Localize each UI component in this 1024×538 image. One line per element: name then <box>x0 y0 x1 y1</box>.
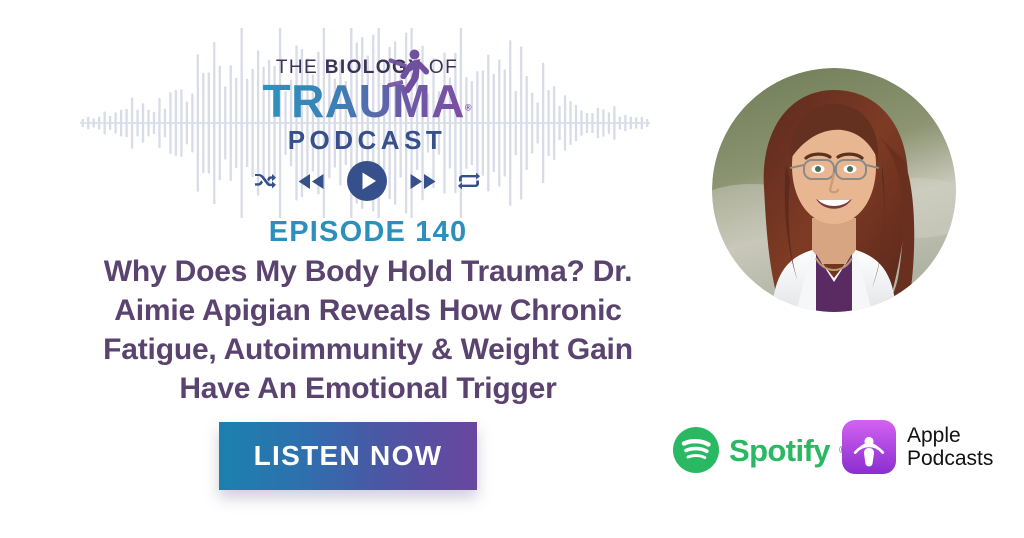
registered-trademark-mark: ® <box>465 103 472 113</box>
fast-forward-icon[interactable] <box>408 173 438 190</box>
spotify-wordmark: Spotify <box>729 435 830 466</box>
episode-title-line: Why Does My Body Hold Trauma? Dr. <box>58 252 678 291</box>
spotify-badge[interactable]: Spotify® <box>672 426 846 474</box>
apple-podcasts-badge[interactable]: Apple Podcasts <box>842 420 993 474</box>
episode-title: Why Does My Body Hold Trauma? Dr. Aimie … <box>58 252 678 408</box>
episode-title-line: Have An Emotional Trigger <box>58 369 678 408</box>
host-portrait <box>712 68 956 312</box>
playback-controls <box>232 160 502 202</box>
running-figure-icon <box>384 47 430 97</box>
rewind-icon[interactable] <box>296 173 326 190</box>
podcast-promo-graphic: THE BIOLOGY OF TRAUMA® PODCAST <box>0 0 1024 538</box>
wordmark-row: TRAUMA® <box>232 79 502 123</box>
spotify-icon <box>672 426 720 474</box>
podcast-logo: THE BIOLOGY OF TRAUMA® PODCAST <box>232 58 502 153</box>
listen-now-label: LISTEN NOW <box>254 440 443 472</box>
platform-badges: Spotify® <box>672 418 992 490</box>
repeat-icon[interactable] <box>458 172 480 190</box>
episode-number-label: EPISODE 140 <box>58 216 678 249</box>
apple-podcasts-icon <box>842 420 896 474</box>
apple-podcasts-wordmark: Apple Podcasts <box>907 424 993 470</box>
listen-now-button[interactable]: LISTEN NOW <box>219 422 477 490</box>
shuffle-icon[interactable] <box>254 172 276 190</box>
play-button-icon[interactable] <box>346 160 388 202</box>
episode-title-line: Aimie Apigian Reveals How Chronic <box>58 291 678 330</box>
episode-title-line: Fatigue, Autoimmunity & Weight Gain <box>58 330 678 369</box>
brand-subtitle: PODCAST <box>232 127 502 153</box>
brand-wordmark: TRAUMA <box>263 79 465 123</box>
apple-wordmark-line-2: Podcasts <box>907 447 993 470</box>
apple-wordmark-line-1: Apple <box>907 424 993 447</box>
host-portrait-image <box>712 68 956 312</box>
